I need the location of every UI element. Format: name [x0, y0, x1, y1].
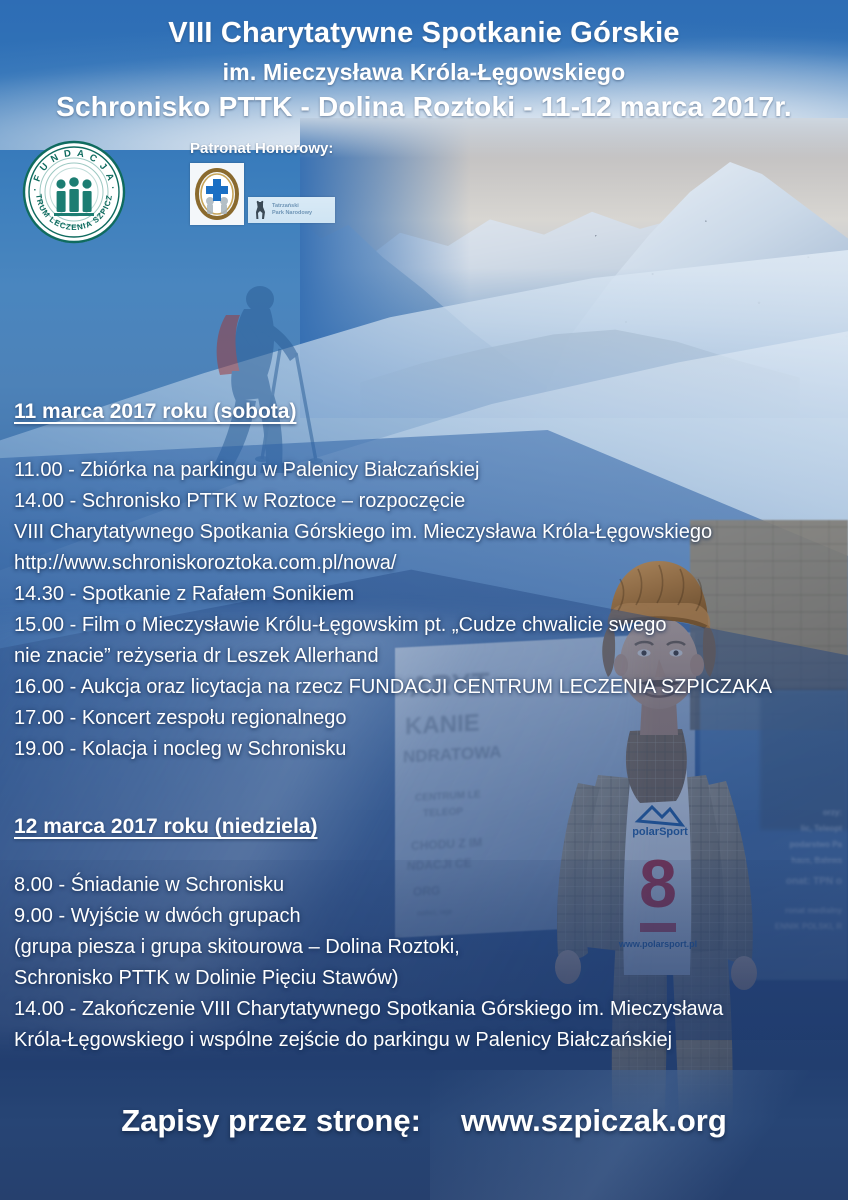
page-title: VIII Charytatywne Spotkanie Górskie: [0, 16, 848, 50]
patronage-logos: Tatrzański Park Narodowy: [190, 163, 335, 225]
schedule-list-sunday: 8.00 - Śniadanie w Schronisku 9.00 - Wyj…: [14, 870, 840, 1056]
topr-logo: [190, 163, 244, 225]
schedule-line: 14.30 - Spotkanie z Rafałem Sonikiem: [14, 579, 840, 610]
schedule-line-url[interactable]: http://www.schroniskoroztoka.com.pl/nowa…: [14, 548, 840, 579]
event-poster: ARYT KANIE NDRATOWA CENTRUM LE TELEOP CH…: [0, 0, 848, 1200]
day-heading-saturday: 11 marca 2017 roku (sobota): [14, 400, 296, 424]
registration-url[interactable]: www.szpiczak.org: [461, 1103, 727, 1139]
schedule-line: VIII Charytatywnego Spotkania Górskiego …: [14, 517, 840, 548]
day-heading-sunday: 12 marca 2017 roku (niedziela): [14, 815, 318, 839]
page-subtitle: im. Mieczysława Króla-Łęgowskiego: [0, 58, 848, 86]
schedule-line: 11.00 - Zbiórka na parkingu w Palenicy B…: [14, 455, 840, 486]
fundacja-centrum-leczenia-szpiczaka-logo: · F U N D A C J A · CENTRUM LECZENIA SZP…: [22, 140, 126, 244]
schedule-line: 9.00 - Wyjście w dwóch grupach: [14, 901, 840, 932]
schedule-line: 19.00 - Kolacja i nocleg w Schronisku: [14, 734, 840, 765]
patronage-block: Patronat Honorowy:: [190, 140, 335, 225]
tpn-logo-line2: Park Narodowy: [272, 210, 312, 217]
registration-label: Zapisy przez stronę:: [121, 1103, 421, 1139]
page-place-and-date: Schronisko PTTK - Dolina Roztoki - 11-12…: [0, 90, 848, 124]
schedule-list-saturday: 11.00 - Zbiórka na parkingu w Palenicy B…: [14, 455, 840, 765]
schedule-line: Króla-Łęgowskiego i wspólne zejście do p…: [14, 1025, 840, 1056]
patronage-label: Patronat Honorowy:: [190, 140, 335, 157]
schedule-line: nie znacie” reżyseria dr Leszek Allerhan…: [14, 641, 840, 672]
schedule-line: 15.00 - Film o Mieczysławie Królu-Łęgows…: [14, 610, 840, 641]
schedule-line: 16.00 - Aukcja oraz licytacja na rzecz F…: [14, 672, 840, 703]
schedule-line: Schronisko PTTK w Dolinie Pięciu Stawów): [14, 963, 840, 994]
schedule-line: 17.00 - Koncert zespołu regionalnego: [14, 703, 840, 734]
tpn-logo-line1: Tatrzański: [272, 203, 312, 210]
schedule-line: 14.00 - Zakończenie VIII Charytatywnego …: [14, 994, 840, 1025]
schedule-line: 8.00 - Śniadanie w Schronisku: [14, 870, 840, 901]
tpn-logo: Tatrzański Park Narodowy: [248, 197, 335, 223]
schedule-line: (grupa piesza i grupa skitourowa – Dolin…: [14, 932, 840, 963]
schedule-line: 14.00 - Schronisko PTTK w Roztoce – rozp…: [14, 486, 840, 517]
footer: Zapisy przez stronę: www.szpiczak.org: [0, 1103, 848, 1139]
